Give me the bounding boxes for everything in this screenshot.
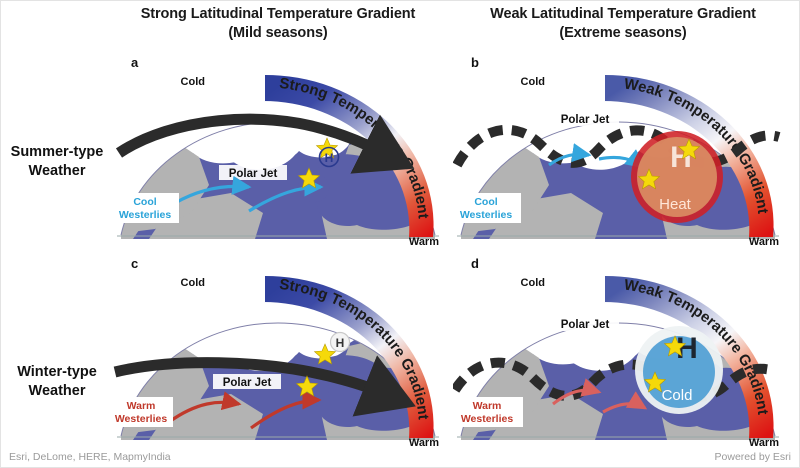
panel-b-jet-label: Polar Jet: [561, 114, 610, 126]
panel-d-bubble-label: Cold: [662, 387, 693, 404]
panel-d-westerlies-box: Warm Westerlies: [453, 397, 523, 427]
panel-b-westerlies-line1: Cool: [474, 196, 497, 208]
panel-b-westerlies-box: Cool Westerlies: [453, 193, 521, 223]
panel-a-jet-label: Polar Jet: [229, 168, 278, 180]
column-title-left-line2: (Mild seasons): [113, 24, 443, 43]
panel-a-cold-swatch: [209, 75, 265, 101]
panel-b-diagram: Weak Temperature Gradient Cold Warm Pola…: [453, 53, 783, 248]
panel-d-cold-bubble: H Cold: [635, 326, 723, 414]
panel-d-westerlies-line2: Westerlies: [461, 413, 513, 425]
column-title-left: Strong Latitudinal Temperature Gradient …: [113, 5, 443, 43]
panel-a-letter: a: [131, 55, 138, 70]
panel-b-letter: b: [471, 55, 479, 70]
panel-c-westerlies-box: Warm Westerlies: [113, 397, 173, 427]
column-title-right: Weak Latitudinal Temperature Gradient (E…: [453, 5, 793, 43]
panel-c-cold-swatch: [209, 276, 265, 302]
figure-root: Strong Latitudinal Temperature Gradient …: [0, 0, 800, 468]
panel-d-cold-label: Cold: [521, 277, 545, 289]
panel-a-westerlies-line2: Westerlies: [119, 209, 171, 221]
panel-b: b Weak Temperature Gradient Cold Warm Po…: [453, 53, 783, 248]
panel-d-cold-swatch: [549, 276, 605, 302]
panel-c-diagram: Strong Temperature Gradient Cold Warm Po…: [113, 254, 443, 449]
panel-b-westerlies-line2: Westerlies: [460, 209, 512, 221]
column-title-right-line2: (Extreme seasons): [453, 24, 793, 43]
panel-a-high-label: H: [325, 151, 334, 165]
credit-left: Esri, DeLome, HERE, MapmyIndia: [9, 451, 171, 463]
panel-d-westerlies-line1: Warm: [473, 400, 502, 412]
panel-d-warm-label: Warm: [749, 437, 779, 449]
panel-c-warm-label: Warm: [409, 437, 439, 449]
panel-a-westerlies-line1: Cool: [133, 196, 156, 208]
row-label-winter-line1: Winter-type: [1, 363, 113, 382]
panel-b-cold-label: Cold: [521, 76, 545, 88]
row-label-winter: Winter-type Weather: [1, 363, 113, 401]
row-label-winter-line2: Weather: [1, 382, 113, 401]
panel-b-warm-label: Warm: [749, 236, 779, 248]
panel-d-letter: d: [471, 256, 479, 271]
panel-d-jet-label: Polar Jet: [561, 319, 610, 331]
panel-b-bubble-label: Heat: [659, 196, 692, 213]
panel-c-jet-label: Polar Jet: [223, 377, 272, 389]
panel-a-warm-label: Warm: [409, 236, 439, 248]
panel-a-diagram: Strong Temperature Gradient Cold Warm Po…: [113, 53, 443, 248]
panel-a-cold-label: Cold: [181, 76, 205, 88]
column-title-right-line1: Weak Latitudinal Temperature Gradient: [453, 5, 793, 24]
panel-c-westerlies-line1: Warm: [127, 400, 156, 412]
panel-a: a Strong Temperature Gradient Cold Warm: [113, 53, 443, 248]
panel-c-high-label: H: [336, 336, 345, 350]
panel-c-cold-label: Cold: [181, 277, 205, 289]
panel-d-diagram: Weak Temperature Gradient Cold Warm Pola…: [453, 254, 783, 449]
panel-c: c Strong Temperature Gradient Cold Warm …: [113, 254, 443, 449]
panel-c-letter: c: [131, 256, 138, 271]
row-label-summer: Summer-type Weather: [1, 143, 113, 181]
row-label-summer-line2: Weather: [1, 162, 113, 181]
panel-c-westerlies-line2: Westerlies: [115, 413, 167, 425]
credit-right: Powered by Esri: [715, 451, 791, 463]
panel-c-high-pressure-symbol: H: [331, 333, 350, 352]
panel-d: d Weak Temperature Gradient Cold Warm Po…: [453, 254, 783, 449]
panel-a-westerlies-box: Cool Westerlies: [113, 193, 179, 223]
column-title-left-line1: Strong Latitudinal Temperature Gradient: [113, 5, 443, 24]
panel-b-cold-swatch: [549, 75, 605, 101]
row-label-summer-line1: Summer-type: [1, 143, 113, 162]
